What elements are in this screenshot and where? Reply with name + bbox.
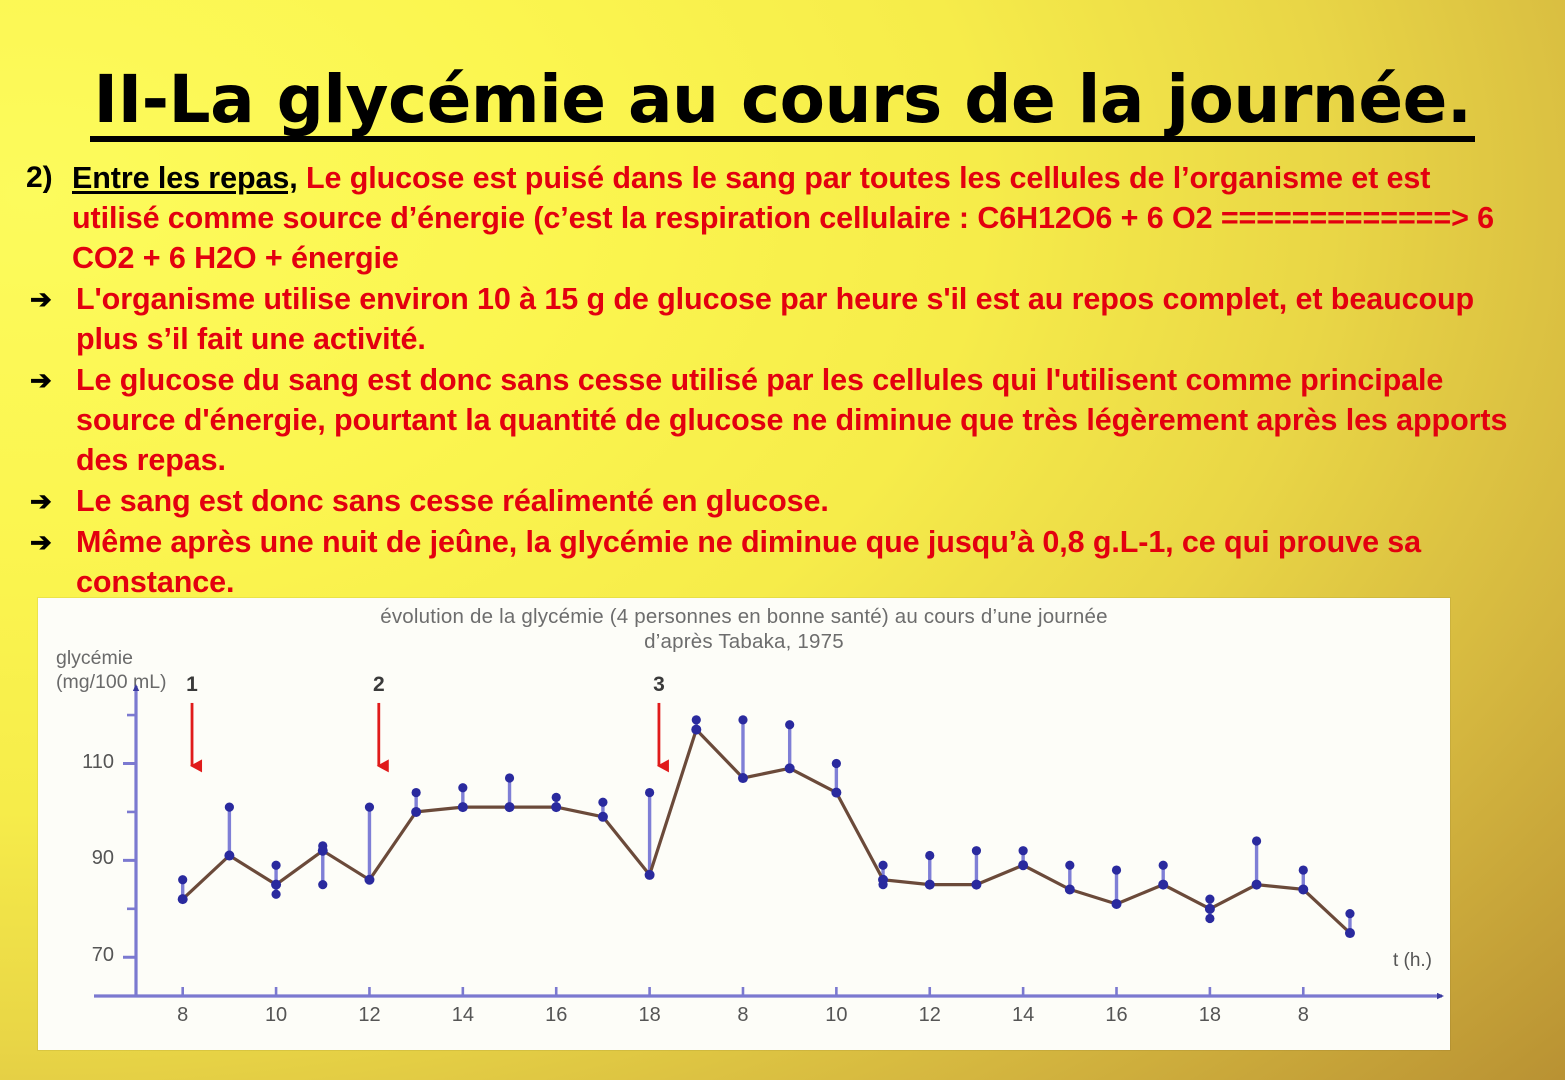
x-tick-8: 12	[913, 1004, 947, 1027]
x-tick-10: 16	[1100, 1004, 1134, 1027]
list-marker-number: 2)	[26, 158, 72, 198]
arrow-bullet-icon: ➔	[26, 279, 76, 319]
paragraph-3: ➔ Le glucose du sang est donc sans cesse…	[26, 360, 1516, 480]
paragraph-5: ➔ Même après une nuit de jeûne, la glycé…	[26, 522, 1516, 602]
x-tick-4: 16	[539, 1004, 573, 1027]
y-tick-110: 110	[60, 751, 114, 774]
meal-label-3: 3	[648, 673, 670, 697]
paragraph-text-4: Le sang est donc sans cesse réalimenté e…	[76, 481, 1516, 521]
y-tick-70: 70	[60, 944, 114, 967]
x-tick-1: 10	[259, 1004, 293, 1027]
arrow-bullet-icon: ➔	[26, 522, 76, 562]
body-text-block: 2) Entre les repas, Le glucose est puisé…	[26, 158, 1516, 603]
glycemia-chart-figure: évolution de la glycémie (4 personnes en…	[38, 598, 1450, 1050]
arrow-bullet-icon: ➔	[26, 360, 76, 400]
paragraph-4: ➔ Le sang est donc sans cesse réalimenté…	[26, 481, 1516, 521]
x-tick-11: 18	[1193, 1004, 1227, 1027]
paragraph-1: 2) Entre les repas, Le glucose est puisé…	[26, 158, 1516, 278]
paragraph-2: ➔ L'organisme utilise environ 10 à 15 g …	[26, 279, 1516, 359]
x-tick-3: 14	[446, 1004, 480, 1027]
meal-label-2: 2	[368, 673, 390, 697]
x-tick-2: 12	[352, 1004, 386, 1027]
paragraph-text-5: Même après une nuit de jeûne, la glycémi…	[76, 522, 1516, 602]
paragraph-text-1: Entre les repas, Le glucose est puisé da…	[72, 158, 1516, 278]
page-title: II-La glycémie au cours de la journée.	[90, 66, 1476, 141]
slide: II-La glycémie au cours de la journée. 2…	[0, 0, 1565, 1080]
chart-plot-area	[38, 598, 1450, 1050]
x-tick-12: 8	[1286, 1004, 1320, 1027]
paragraph-lead-1: Entre les repas,	[72, 161, 298, 195]
x-tick-7: 10	[819, 1004, 853, 1027]
x-tick-0: 8	[166, 1004, 200, 1027]
arrow-bullet-icon: ➔	[26, 481, 76, 521]
x-tick-5: 18	[633, 1004, 667, 1027]
y-tick-90: 90	[60, 847, 114, 870]
paragraph-text-3: Le glucose du sang est donc sans cesse u…	[76, 360, 1516, 480]
x-tick-9: 14	[1006, 1004, 1040, 1027]
paragraph-text-2: L'organisme utilise environ 10 à 15 g de…	[76, 279, 1516, 359]
x-tick-6: 8	[726, 1004, 760, 1027]
meal-label-1: 1	[181, 673, 203, 697]
